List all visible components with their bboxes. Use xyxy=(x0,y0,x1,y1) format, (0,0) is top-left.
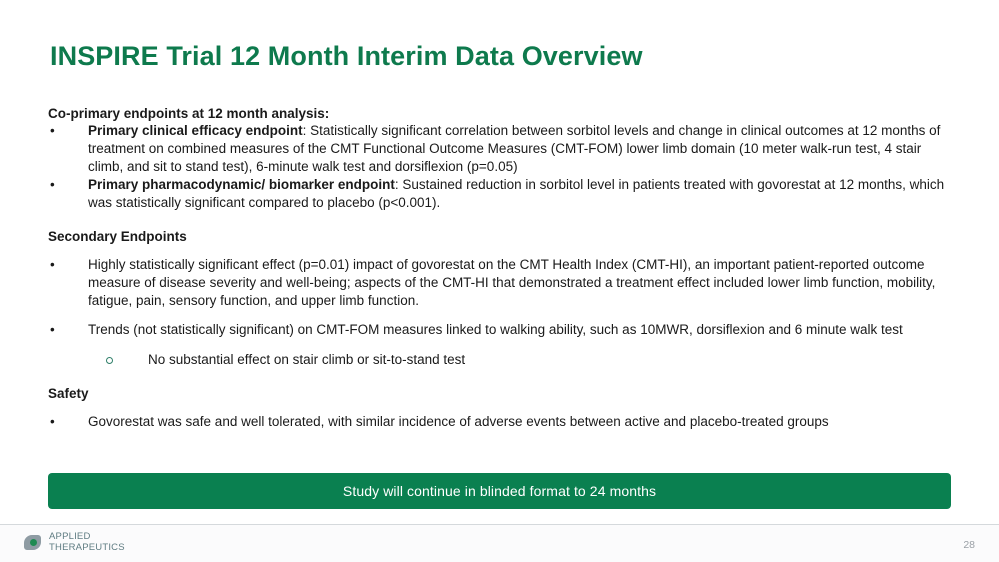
list-item: • Highly statistically significant effec… xyxy=(48,256,953,310)
bullet-marker-icon: • xyxy=(50,321,64,339)
slide-body: Co-primary endpoints at 12 month analysi… xyxy=(48,105,953,431)
slide: INSPIRE Trial 12 Month Interim Data Over… xyxy=(0,0,999,562)
sub-list-item: No substantial effect on stair climb or … xyxy=(48,351,953,369)
bullet-marker-icon: • xyxy=(50,176,64,194)
hollow-circle-bullet-icon xyxy=(106,357,113,364)
list-item: • Govorestat was safe and well tolerated… xyxy=(48,413,953,431)
brand-logo-line2: THERAPEUTICS xyxy=(49,542,125,553)
page-title: INSPIRE Trial 12 Month Interim Data Over… xyxy=(50,41,643,72)
section-heading-secondary: Secondary Endpoints xyxy=(48,228,953,245)
bullet-body-text: Trends (not statistically significant) o… xyxy=(88,322,903,337)
secondary-bullet-list: • Highly statistically significant effec… xyxy=(48,256,953,369)
brand-logo-text: APPLIED THERAPEUTICS xyxy=(49,532,125,553)
list-item: • Trends (not statistically significant)… xyxy=(48,321,953,339)
list-item: • Primary clinical efficacy endpoint: St… xyxy=(48,122,953,176)
bullet-lead-text: Primary pharmacodynamic/ biomarker endpo… xyxy=(88,177,395,192)
safety-bullet-list: • Govorestat was safe and well tolerated… xyxy=(48,413,953,431)
brand-logo: APPLIED THERAPEUTICS xyxy=(24,532,125,553)
bullet-marker-icon: • xyxy=(50,413,64,431)
bullet-body-text: Govorestat was safe and well tolerated, … xyxy=(88,414,829,429)
bullet-marker-icon: • xyxy=(50,256,64,274)
section-heading-safety: Safety xyxy=(48,385,953,402)
page-number: 28 xyxy=(963,539,975,551)
applied-therapeutics-logo-icon xyxy=(24,533,43,552)
bullet-lead-text: Primary clinical efficacy endpoint xyxy=(88,123,303,138)
section-heading-coprimary: Co-primary endpoints at 12 month analysi… xyxy=(48,105,953,122)
coprimary-bullet-list: • Primary clinical efficacy endpoint: St… xyxy=(48,122,953,212)
brand-logo-line1: APPLIED xyxy=(49,531,91,542)
callout-banner: Study will continue in blinded format to… xyxy=(48,473,951,509)
bullet-marker-icon: • xyxy=(50,122,64,140)
bullet-body-text: Highly statistically significant effect … xyxy=(88,257,935,308)
footer xyxy=(0,525,999,562)
callout-banner-text: Study will continue in blinded format to… xyxy=(343,483,656,499)
sub-bullet-text: No substantial effect on stair climb or … xyxy=(148,352,465,367)
list-item: • Primary pharmacodynamic/ biomarker end… xyxy=(48,176,953,212)
